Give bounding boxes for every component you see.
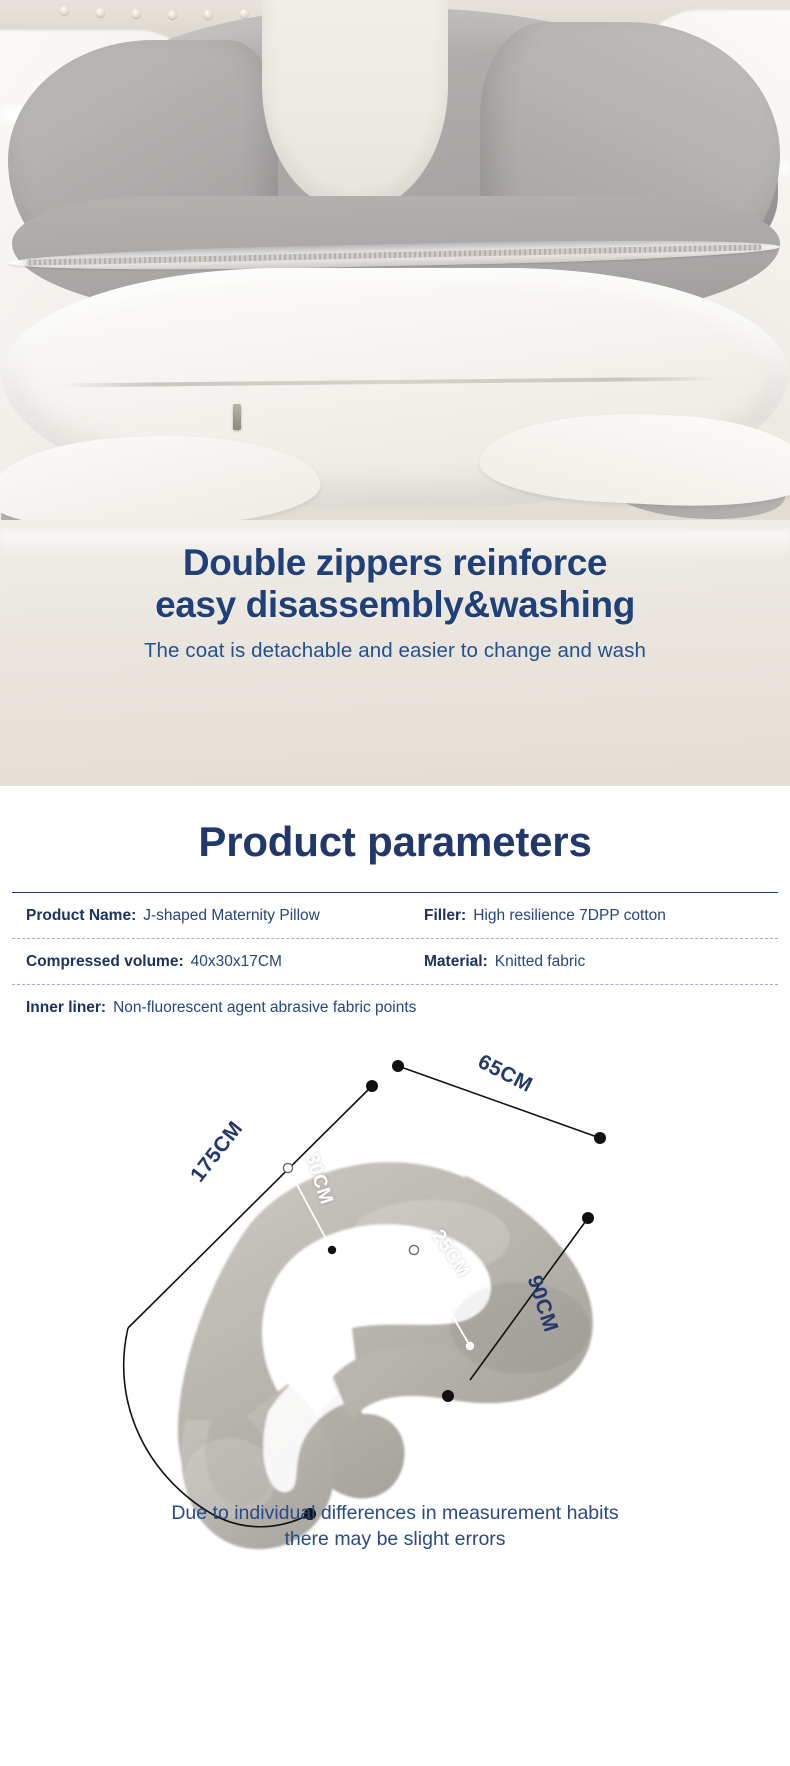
param-value: J-shaped Maternity Pillow <box>143 907 320 925</box>
dot-30-start <box>283 1163 292 1172</box>
param-cell-compressed-volume: Compressed volume: 40x30x17CM <box>26 953 424 971</box>
param-key: Compressed volume: <box>26 953 184 971</box>
disclaimer-line2: there may be slight errors <box>0 1526 790 1552</box>
dot-25-start <box>409 1245 418 1254</box>
zipper-pull-icon <box>233 404 241 430</box>
param-cell-product-name: Product Name: J-shaped Maternity Pillow <box>26 907 424 925</box>
dot-65-start <box>392 1060 404 1072</box>
param-cell-inner-liner: Inner liner: Non-fluorescent agent abras… <box>26 999 772 1017</box>
dot-25-end <box>466 1342 474 1350</box>
dimension-diagram-section <box>0 1028 790 1766</box>
param-value: Non-fluorescent agent abrasive fabric po… <box>113 999 416 1017</box>
dot-65-end <box>594 1132 606 1144</box>
pillow-illustration <box>168 1117 593 1549</box>
dot-90-end <box>442 1390 454 1402</box>
table-row: Compressed volume: 40x30x17CM Material: … <box>12 939 778 985</box>
param-key: Material: <box>424 953 488 971</box>
param-value: Knitted fabric <box>495 953 585 971</box>
param-value: 40x30x17CM <box>191 953 282 971</box>
dot-90-start <box>582 1212 594 1224</box>
dimension-diagram <box>0 1028 790 1708</box>
pillow-zipper-photo <box>0 0 790 786</box>
param-key: Filler: <box>424 907 466 925</box>
sheet-crease <box>0 530 790 560</box>
table-row: Inner liner: Non-fluorescent agent abras… <box>12 985 778 1031</box>
param-cell-filler: Filler: High resilience 7DPP cotton <box>424 907 772 925</box>
param-value: High resilience 7DPP cotton <box>473 907 666 925</box>
param-key: Inner liner: <box>26 999 106 1017</box>
hero-photo-section: Double zippers reinforce easy disassembl… <box>0 0 790 786</box>
page-title: Product parameters <box>0 786 790 876</box>
disclaimer-line1: Due to individual differences in measure… <box>0 1500 790 1526</box>
measurement-disclaimer: Due to individual differences in measure… <box>0 1500 790 1552</box>
dot-175-start <box>366 1080 378 1092</box>
table-row: Product Name: J-shaped Maternity Pillow … <box>12 893 778 939</box>
param-cell-material: Material: Knitted fabric <box>424 953 772 971</box>
product-detail-page: Double zippers reinforce easy disassembl… <box>0 0 790 1766</box>
dot-30-end <box>328 1246 336 1254</box>
param-key: Product Name: <box>26 907 136 925</box>
